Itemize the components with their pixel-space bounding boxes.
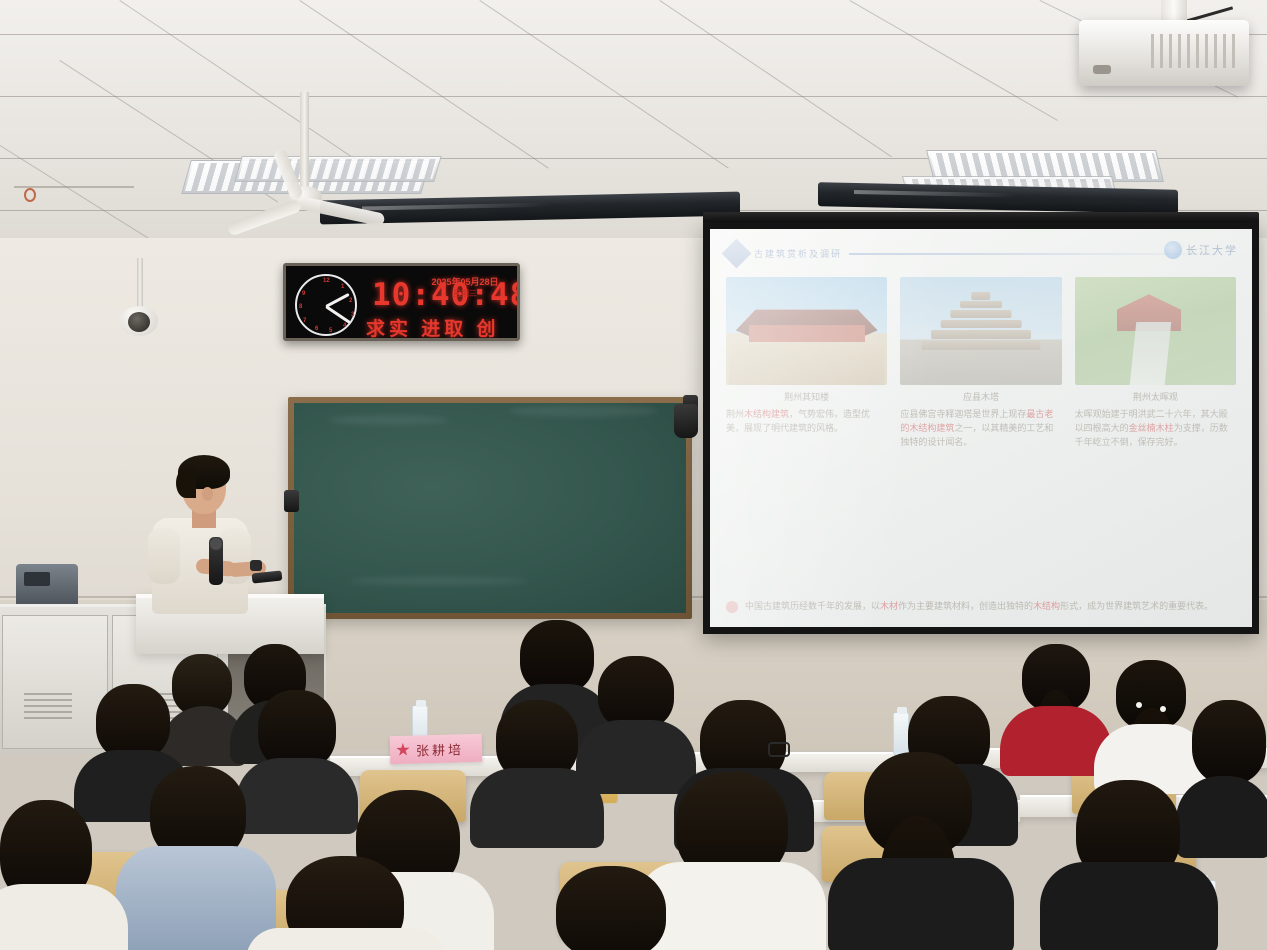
slide-image-yingxian-pagoda — [900, 277, 1061, 385]
ceiling-projector — [1079, 20, 1249, 86]
clock-date-text: 2025年05月28日 — [419, 275, 511, 288]
clock-numeral: 8 — [299, 304, 302, 310]
presenter-ear — [202, 487, 213, 501]
image-caption: 应县木塔 — [900, 390, 1061, 403]
projector-vents — [1151, 34, 1241, 68]
image-caption: 荆州其知楼 — [726, 390, 887, 403]
presenter-sleeve — [148, 528, 180, 584]
clock-hand-hour — [325, 293, 349, 308]
clock-numeral: 4 — [343, 323, 346, 329]
wristwatch — [250, 560, 262, 571]
school-motto-text: 求实 进取 创业 报国 — [366, 314, 517, 341]
slide-header-title: 古建筑赏析及调研 — [754, 247, 842, 260]
screen-surface: 古建筑赏析及调研 长江大学 荆州其知楼 荆州木结构建筑，气势宏伟，造型优美，展现… — [710, 229, 1252, 627]
wall-speaker — [674, 404, 698, 438]
name-card: 张耕培 — [390, 734, 483, 764]
eyeglasses — [768, 742, 790, 757]
clock-numeral: 7 — [303, 318, 306, 324]
slide-header: 古建筑赏析及调研 — [726, 243, 1236, 264]
column-body: 荆州木结构建筑，气势宏伟，造型优美，展现了明代建筑的风格。 — [726, 408, 887, 436]
clock-hand-minute — [325, 305, 351, 324]
clock-numeral: 5 — [329, 328, 332, 334]
clock-numeral: 12 — [323, 278, 330, 284]
column-body: 太晖观始建于明洪武二十六年，其大殿以四根高大的金丝楠木柱为支撑，历数千年屹立不倒… — [1075, 408, 1236, 450]
blackboard-clip — [284, 490, 299, 512]
slide-footer: 中国古建筑历经数千年的发展，以木材作为主要建筑材料，创造出独特的木结构形式，成为… — [726, 599, 1236, 613]
column-body: 应县佛宫寺释迦塔是世界上现存最古老的木结构建筑之一，以其精美的工艺和独特的设计闻… — [900, 408, 1061, 450]
analog-clock-face: 12 1 2 3 4 5 6 7 8 9 — [295, 274, 357, 336]
slide-columns: 荆州其知楼 荆州木结构建筑，气势宏伟，造型优美，展现了明代建筑的风格。 — [726, 277, 1236, 450]
clock-numeral: 6 — [315, 326, 318, 332]
clock-numeral: 3 — [351, 312, 354, 318]
slide-column: 应县木塔 应县佛宫寺释迦塔是世界上现存最古老的木结构建筑之一，以其精美的工艺和独… — [900, 277, 1061, 450]
slide-column: 荆州太晖观 太晖观始建于明洪武二十六年，其大殿以四根高大的金丝楠木柱为支撑，历数… — [1075, 277, 1236, 450]
slide-image-jingzhou-tower — [726, 277, 887, 385]
ceiling-fan-rod — [300, 92, 309, 188]
slide-image-taihui-temple — [1075, 277, 1236, 385]
microphone — [209, 537, 223, 585]
ceiling-fan-blade — [226, 198, 302, 236]
presenter-hair-side — [176, 468, 196, 498]
blackboard-surface — [294, 403, 686, 613]
logo-mark-icon — [1164, 241, 1182, 259]
slide-footer-text: 中国古建筑历经数千年的发展，以木材作为主要建筑材料，创造出独特的木结构形式，成为… — [745, 599, 1213, 613]
projection-screen: 古建筑赏析及调研 长江大学 荆州其知楼 荆州木结构建筑，气势宏伟，造型优美，展现… — [703, 222, 1259, 634]
university-logo: 长江大学 — [1164, 241, 1238, 259]
fluorescent-light — [234, 156, 441, 182]
water-bottle — [893, 712, 909, 756]
desk-equipment — [16, 564, 78, 608]
lecture-hall-photo: 12 1 2 3 4 5 6 7 8 9 10:40:48 2025年05月28… — [0, 0, 1267, 950]
logo-text: 长江大学 — [1186, 242, 1238, 258]
projector-lens — [1093, 65, 1111, 74]
led-clock-board: 12 1 2 3 4 5 6 7 8 9 10:40:48 2025年05月28… — [283, 263, 520, 341]
clock-numeral: 2 — [349, 298, 352, 304]
slide-column: 荆州其知楼 荆州木结构建筑，气势宏伟，造型优美，展现了明代建筑的风格。 — [726, 277, 887, 450]
name-card-text: 张耕培 — [416, 739, 464, 759]
image-caption: 荆州太晖观 — [1075, 390, 1236, 403]
clock-numeral: 9 — [302, 291, 305, 297]
diamond-icon — [722, 239, 752, 269]
clock-weekday-text: 星期三 — [419, 288, 511, 299]
bullet-icon — [726, 601, 738, 613]
camera-lens-icon — [128, 312, 150, 332]
presentation-slide: 古建筑赏析及调研 长江大学 荆州其知楼 荆州木结构建筑，气势宏伟，造型优美，展现… — [710, 229, 1252, 627]
clock-numeral: 1 — [341, 284, 344, 290]
blackboard — [288, 397, 692, 619]
